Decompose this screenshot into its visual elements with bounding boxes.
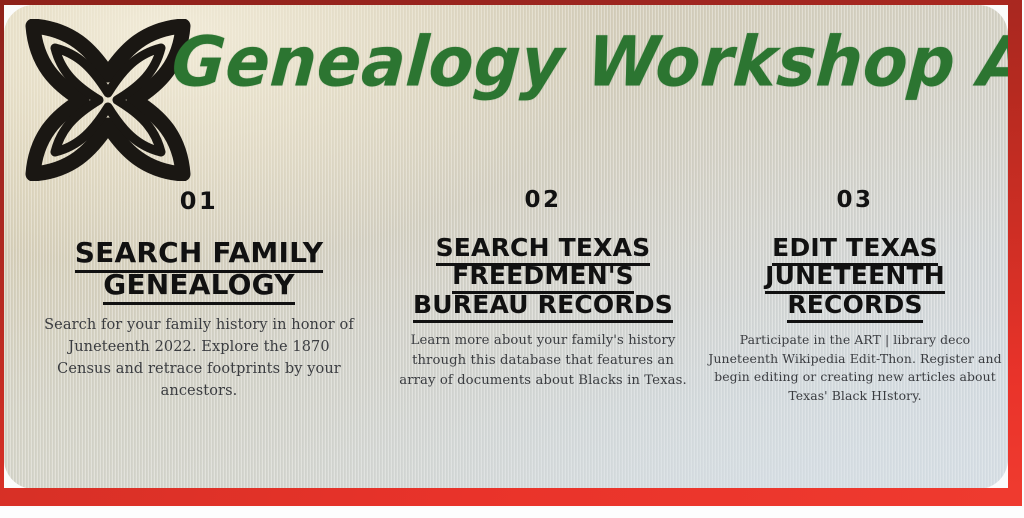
- activity-number: 02: [390, 189, 696, 212]
- activity-heading: SEARCH FAMILY GENEALOGY: [38, 237, 360, 300]
- activity-heading: EDIT TEXAS JUNETEENTH RECORDS: [706, 234, 1004, 319]
- activity-card-2: 02 SEARCH TEXAS FREEDMEN'S BUREAU RECORD…: [384, 189, 702, 391]
- activity-heading-text[interactable]: SEARCH FAMILY GENEALOGY: [75, 236, 323, 305]
- activities-columns: 01 SEARCH FAMILY GENEALOGY Search for yo…: [4, 189, 1008, 406]
- activity-heading: SEARCH TEXAS FREEDMEN'S BUREAU RECORDS: [390, 234, 696, 319]
- activity-number: 03: [706, 189, 1004, 212]
- activity-card-1: 01 SEARCH FAMILY GENEALOGY Search for yo…: [4, 189, 384, 402]
- poster-inner-panel: Genealogy Workshop Activities 01 SEARCH …: [4, 5, 1008, 489]
- poster-canvas: Genealogy Workshop Activities 01 SEARCH …: [0, 0, 1024, 518]
- activity-number: 01: [38, 189, 360, 213]
- activity-heading-text[interactable]: SEARCH TEXAS FREEDMEN'S BUREAU RECORDS: [413, 233, 673, 323]
- poster-header: Genealogy Workshop Activities: [4, 5, 1008, 183]
- adinkra-x-symbol-icon: [25, 19, 191, 181]
- activity-heading-text[interactable]: EDIT TEXAS JUNETEENTH RECORDS: [765, 233, 945, 323]
- activity-description: Participate in the ART | library deco Ju…: [706, 331, 1004, 406]
- page-title: Genealogy Workshop Activities: [169, 27, 1008, 99]
- activity-description: Search for your family history in honor …: [38, 314, 360, 402]
- activity-description: Learn more about your family's history t…: [390, 331, 696, 391]
- activity-card-3: 03 EDIT TEXAS JUNETEENTH RECORDS Partici…: [702, 189, 1008, 406]
